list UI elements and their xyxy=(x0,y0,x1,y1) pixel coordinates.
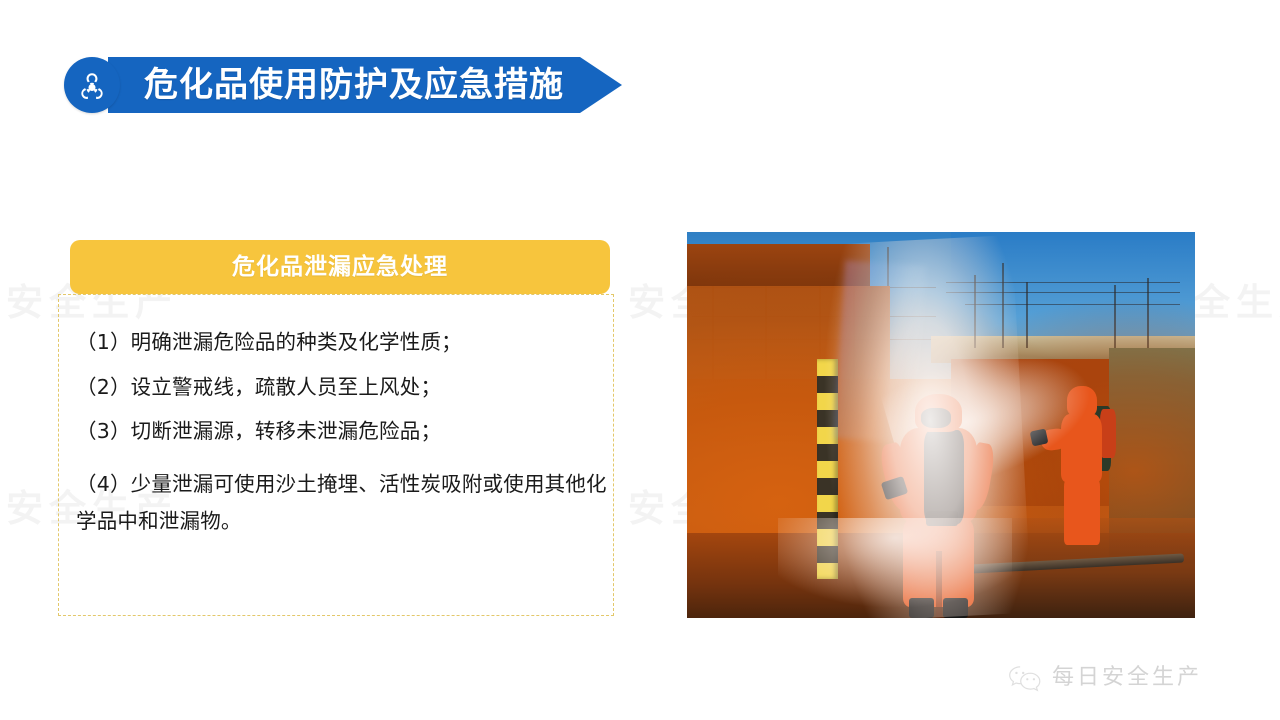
list-item: （2）设立警戒线，疏散人员至上风处； xyxy=(76,377,624,398)
wechat-icon xyxy=(1007,664,1043,692)
photo-spray-rainbow xyxy=(833,260,926,443)
procedure-list: （1）明确泄漏危险品的种类及化学性质； （2）设立警戒线，疏散人员至上风处； （… xyxy=(76,332,624,541)
page-title: 危化品使用防护及应急措施 xyxy=(144,68,564,102)
panel-title-banner: 危化品泄漏应急处理 xyxy=(70,240,610,294)
brand-watermark: 每日安全生产 xyxy=(1007,664,1202,692)
list-item: （4）少量泄漏可使用沙土掩埋、活性炭吸附或使用其他化学品中和泄漏物。 xyxy=(76,466,624,542)
panel-title-text: 危化品泄漏应急处理 xyxy=(232,256,448,279)
biohazard-icon xyxy=(64,57,120,113)
list-item: （1）明确泄漏危险品的种类及化学性质； xyxy=(76,332,624,353)
emergency-response-photo xyxy=(687,232,1195,618)
list-item: （3）切断泄漏源，转移未泄漏危险品； xyxy=(76,421,624,442)
photo-spray-ground-mist xyxy=(778,518,1012,618)
brand-name: 每日安全生产 xyxy=(1052,667,1202,689)
slide-header: 危化品使用防护及应急措施 xyxy=(64,57,622,113)
header-banner: 危化品使用防护及应急措施 xyxy=(108,57,622,113)
